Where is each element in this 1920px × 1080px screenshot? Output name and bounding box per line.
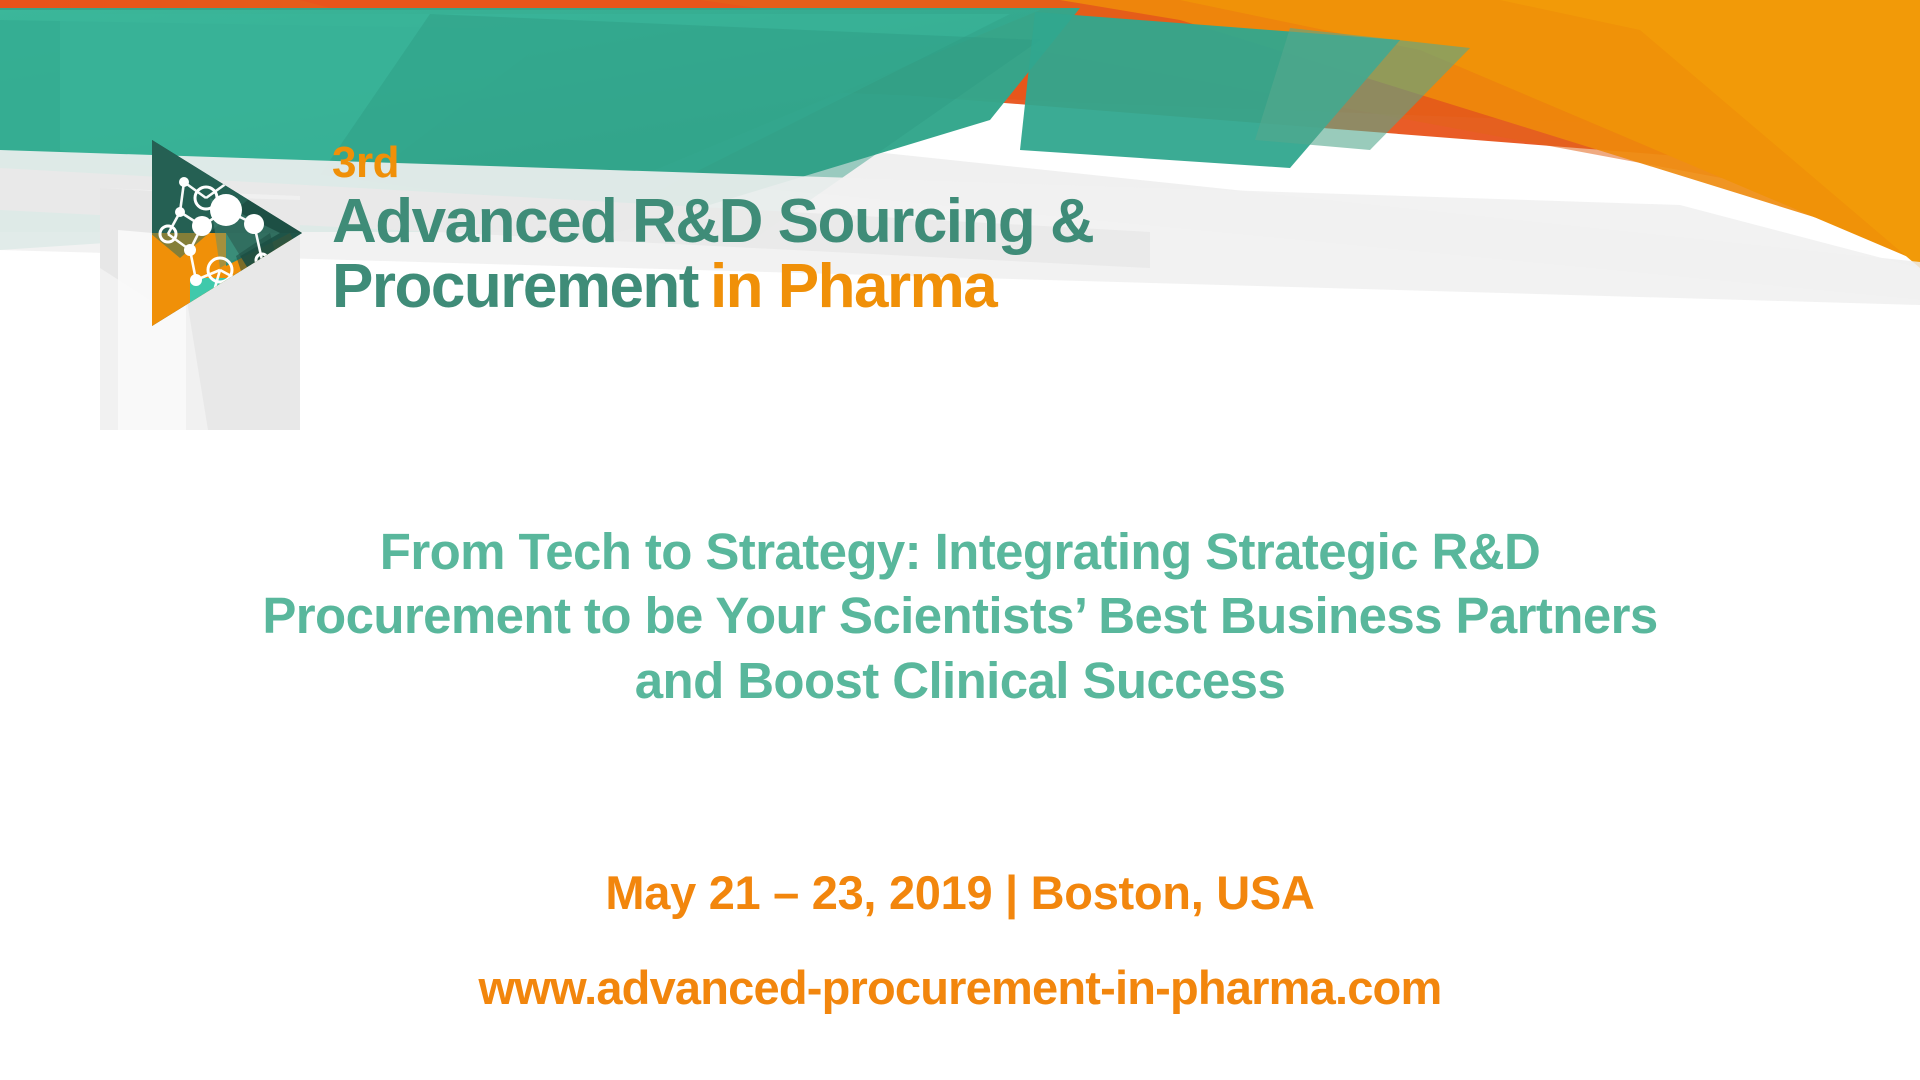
brand-name-line2-primary: Procurement [332,252,698,321]
slide-content: From Tech to Strategy: Integrating Strat… [0,520,1920,1015]
conference-title-slide: 3rd Advanced R&D Sourcing & Procurementi… [0,0,1920,1080]
molecular-triangle-logo-icon [150,138,310,328]
teal-facet-right-small [1255,28,1470,150]
event-date-location: May 21 – 23, 2019 | Boston, USA [0,865,1920,920]
brand-logo-text: 3rd Advanced R&D Sourcing & Procurementi… [332,138,1093,318]
brand-name-line2-accent: in Pharma [698,252,996,321]
brand-name-line2: Procurementin Pharma [332,255,1093,318]
brand-ordinal: 3rd [332,142,1093,184]
orange-band-upper [0,0,1920,135]
orange-band-shade-d [1500,0,1920,268]
brand-name-line1: Advanced R&D Sourcing & [332,190,1093,253]
event-title: From Tech to Strategy: Integrating Strat… [220,520,1700,713]
orange-band-shade-c [1180,0,1920,262]
brand-logo: 3rd Advanced R&D Sourcing & Procurementi… [150,138,1093,328]
orange-band-shade-b [1060,0,1920,250]
event-website[interactable]: www.advanced-procurement-in-pharma.com [0,960,1920,1015]
